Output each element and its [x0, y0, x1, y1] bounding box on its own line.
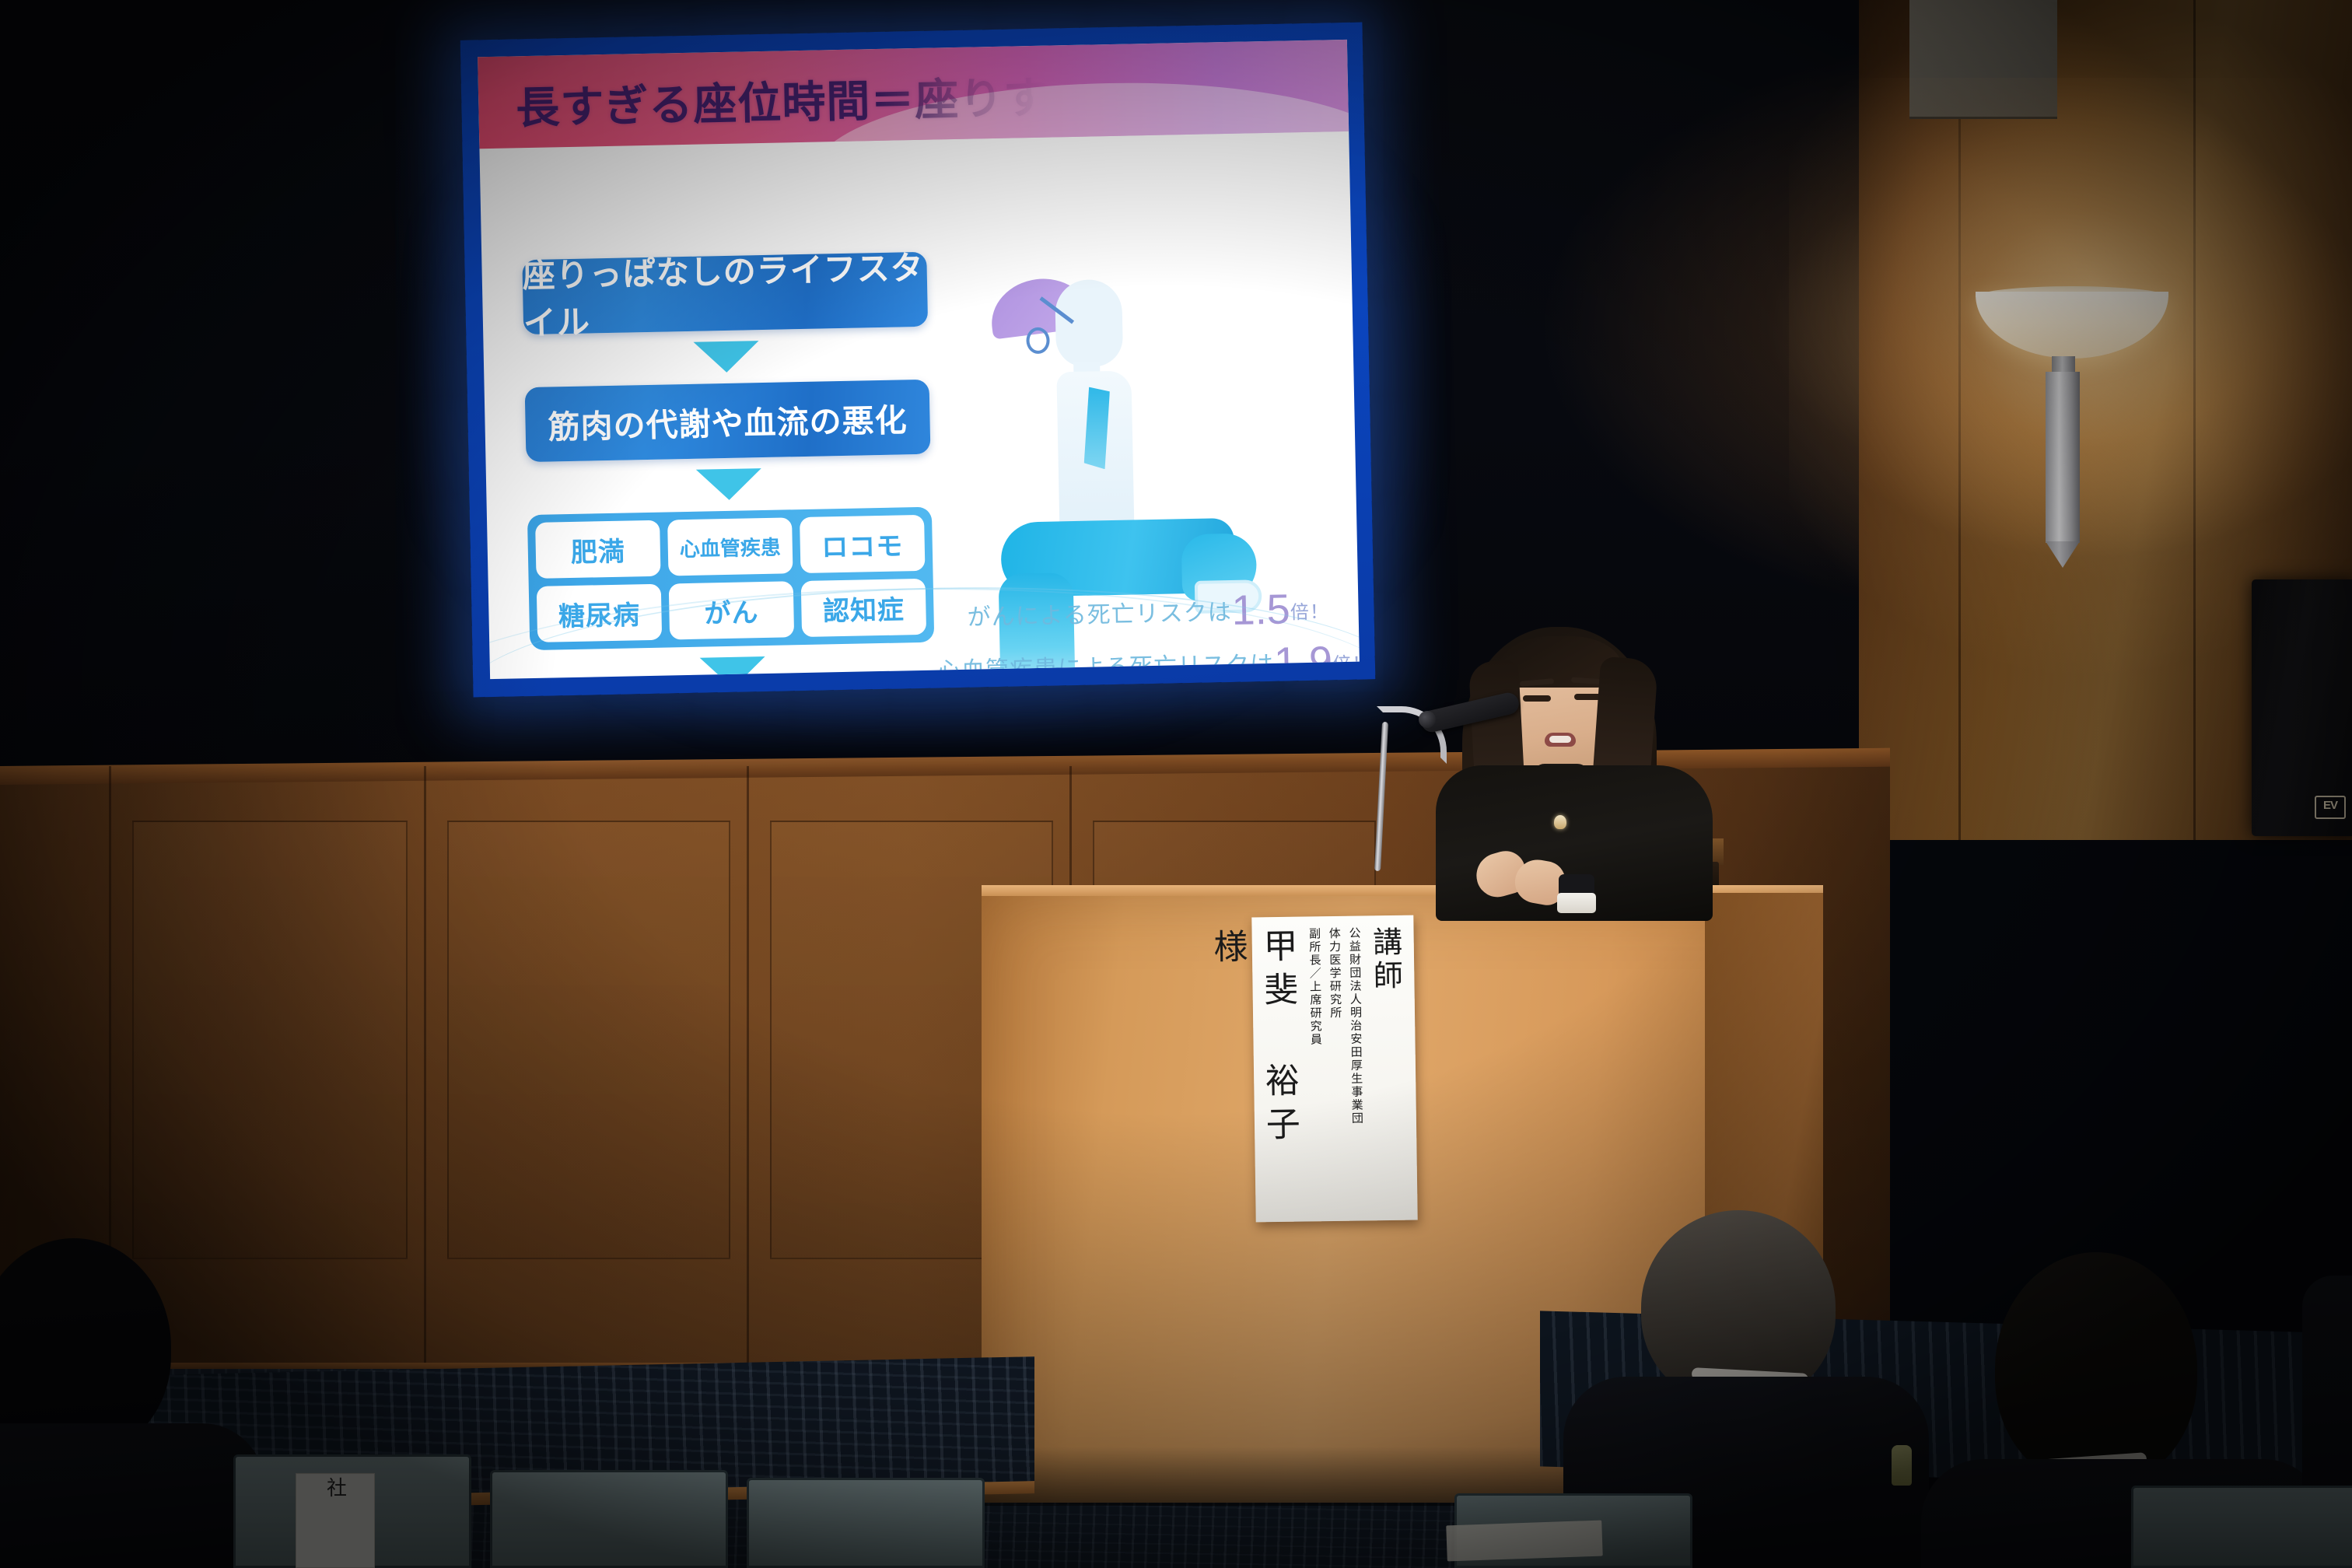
speaker-nameplate: 講師 公益財団法人明治安田厚生事業団 体力医学研究所 副所長／上席研究員 甲斐 …: [1251, 915, 1417, 1223]
arrow-down-icon: [693, 341, 759, 373]
nameplate-role: 講師: [1363, 926, 1409, 1213]
audience-chair: [490, 1470, 728, 1568]
illustration-head: [1055, 279, 1123, 368]
risk-cell: 心血管疾患: [667, 517, 793, 576]
projection-screen: 長すぎる座位時間＝座りす 座りっぱなしのライフスタイル 筋肉の代謝や血流の悪化 …: [460, 22, 1376, 697]
flow-step-2: 筋肉の代謝や血流の悪化: [525, 380, 931, 462]
audience-shoulders-left: [0, 1423, 264, 1568]
pa-speaker-cabinet: EV: [2252, 579, 2352, 836]
lamp-shade: [1976, 292, 2168, 359]
wall-panel: [447, 821, 730, 1259]
risk-cell: 肥満: [535, 520, 660, 579]
flow-step-1: 座りっぱなしのライフスタイル: [522, 252, 928, 334]
wall-sconce-lamp: [1968, 257, 2201, 591]
microphone-joint: [1419, 711, 1436, 728]
audience-chair: [2131, 1486, 2352, 1568]
slide-title-band: 長すぎる座位時間＝座りす: [478, 40, 1349, 149]
risk-cell: ロコモ: [800, 515, 925, 573]
ceiling-panel: [1909, 0, 2057, 119]
lamp-stem: [2046, 372, 2080, 543]
water-bottle: [1892, 1445, 1912, 1486]
nameplate-affiliation-3: 副所長／上席研究員: [1304, 927, 1325, 1213]
presenter: [1428, 619, 1770, 899]
presenter-watch-band: [1557, 893, 1596, 913]
nameplate-affiliation-2: 体力医学研究所: [1325, 927, 1346, 1213]
wall-panel: [132, 821, 408, 1259]
slide-title: 長すぎる座位時間＝座りす: [516, 63, 1048, 137]
nameplate-affiliation-1: 公益財団法人明治安田厚生事業団: [1345, 927, 1366, 1213]
audience-head-right: [1995, 1252, 2197, 1486]
chair-name-card: 社: [296, 1473, 375, 1568]
presenter-lapel-pin: [1554, 815, 1566, 829]
nameplate-name: 甲斐 裕子 様: [1202, 928, 1305, 1216]
ev-brand-logo: EV: [2315, 796, 2346, 819]
chair-card-label: 社: [321, 1474, 350, 1500]
arrow-down-icon: [696, 468, 762, 501]
presentation-slide: 長すぎる座位時間＝座りす 座りっぱなしのライフスタイル 筋肉の代謝や血流の悪化 …: [478, 40, 1360, 679]
illustration-ear: [1026, 327, 1050, 355]
screenshot-root: EV 長すぎる座位時間＝座りす 座りっぱなしのライフスタイル 筋肉の代謝や血流の…: [0, 0, 2352, 1568]
audience-chair: [747, 1478, 985, 1568]
risk-grid-row: 肥満 心血管疾患 ロコモ: [535, 515, 925, 579]
handout-paper: [1446, 1521, 1602, 1562]
